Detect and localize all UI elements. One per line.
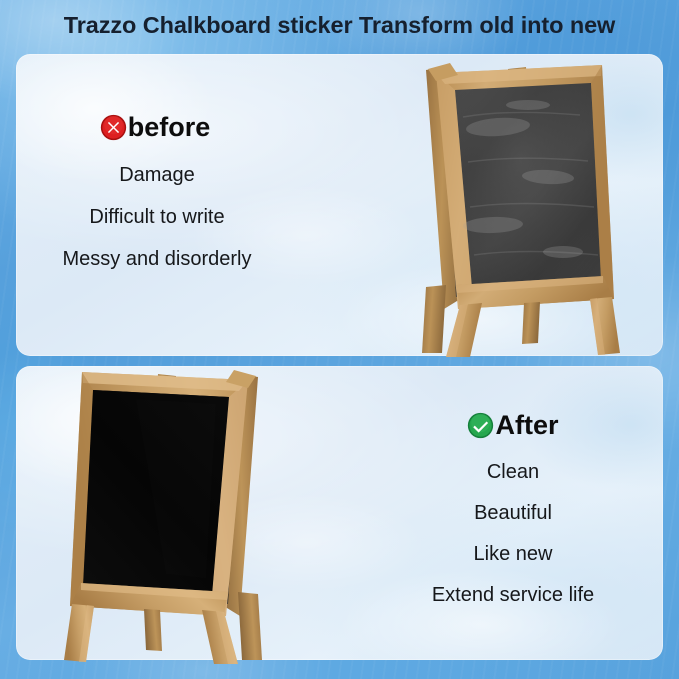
after-label-row: After <box>388 410 638 441</box>
after-bullet-4: Extend service life <box>388 585 638 605</box>
worn-chalkboard-easel <box>398 57 634 357</box>
after-bullet-3: Like new <box>388 544 638 564</box>
product-comparison-graphic: Trazzo Chalkboard sticker Transform old … <box>0 0 679 679</box>
page-title: Trazzo Chalkboard sticker Transform old … <box>0 12 679 39</box>
after-bullet-1: Clean <box>388 462 638 482</box>
before-text-block: before Damage Difficult to write Messy a… <box>22 112 292 269</box>
before-bullet-1: Damage <box>22 165 292 185</box>
before-label-row: before <box>18 112 292 143</box>
before-label: before <box>128 112 211 143</box>
before-bullet-3: Messy and disorderly <box>22 249 292 269</box>
before-bullet-2: Difficult to write <box>22 207 292 227</box>
after-text-block: After Clean Beautiful Like new Extend se… <box>388 410 638 605</box>
red-x-circle-icon <box>100 114 127 141</box>
after-bullet-2: Beautiful <box>388 503 638 523</box>
new-chalkboard-easel <box>50 364 286 664</box>
green-check-circle-icon <box>467 412 494 439</box>
after-label: After <box>495 410 558 441</box>
